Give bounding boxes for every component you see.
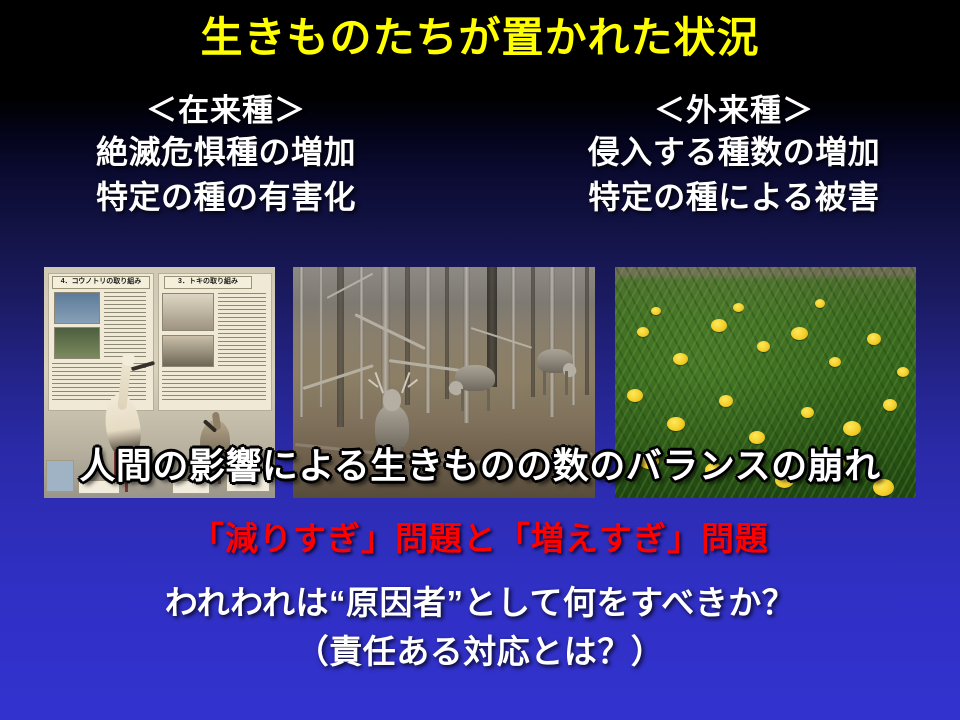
column-native-species: ＜在来種＞ 絶滅危惧種の増加 特定の種の有害化 — [0, 92, 482, 221]
closing-question-line-1: われわれは“原因者”として何をすべきか？ — [0, 582, 960, 625]
exhibit-text-block-4 — [162, 371, 266, 403]
overlay-caption: 人間の影響による生きものの数のバランスの崩れ — [0, 437, 960, 489]
deer-right — [531, 345, 579, 399]
deer-leg-1 — [543, 371, 546, 395]
deer-antler-tine-right — [407, 379, 418, 388]
deer-middle — [449, 359, 501, 413]
red-emphasis-line: 「減りすぎ」問題と「増えすぎ」問題 — [0, 512, 960, 560]
native-species-heading: ＜在来種＞ — [0, 92, 452, 130]
deer-leg-2 — [565, 371, 568, 395]
alien-species-line-2: 特定の種による被害 — [508, 175, 960, 220]
exhibit-text-block-3 — [218, 293, 266, 369]
exhibit-photo-1b — [54, 327, 100, 359]
exhibit-photo-2a — [162, 293, 214, 331]
closing-question-block: われわれは“原因者”として何をすべきか？ （責任ある対応とは？） — [0, 582, 960, 674]
deer-antler-left — [375, 372, 384, 393]
alien-species-line-1: 侵入する種数の増加 — [508, 130, 960, 175]
deer-head — [383, 389, 401, 411]
page-title: 生きものたちが置かれた状況 — [0, 14, 960, 61]
stork-head — [122, 353, 135, 366]
exhibit-panel-title-1: 4．コウノトリの取り組み — [52, 276, 150, 289]
native-species-line-1: 絶滅危惧種の増加 — [0, 130, 452, 175]
native-species-line-2: 特定の種の有害化 — [0, 175, 452, 220]
closing-question-line-2: （責任ある対応とは？） — [0, 631, 960, 674]
alien-species-heading: ＜外来種＞ — [508, 92, 960, 130]
exhibit-photo-2b — [162, 335, 214, 367]
deer-leg-1 — [461, 389, 464, 411]
species-columns: ＜在来種＞ 絶滅危惧種の増加 特定の種の有害化 ＜外来種＞ 侵入する種数の増加 … — [0, 92, 960, 221]
deer-leg-2 — [487, 389, 490, 411]
deer-antler-right — [401, 372, 410, 393]
column-alien-species: ＜外来種＞ 侵入する種数の増加 特定の種による被害 — [482, 92, 960, 221]
exhibit-photo-1a — [54, 292, 100, 324]
stork-beak — [131, 361, 155, 371]
exhibit-panel-title-2: 3．トキの取り組み — [164, 276, 252, 289]
slide-canvas: 生きものたちが置かれた状況 ＜在来種＞ 絶滅危惧種の増加 特定の種の有害化 ＜外… — [0, 0, 960, 720]
